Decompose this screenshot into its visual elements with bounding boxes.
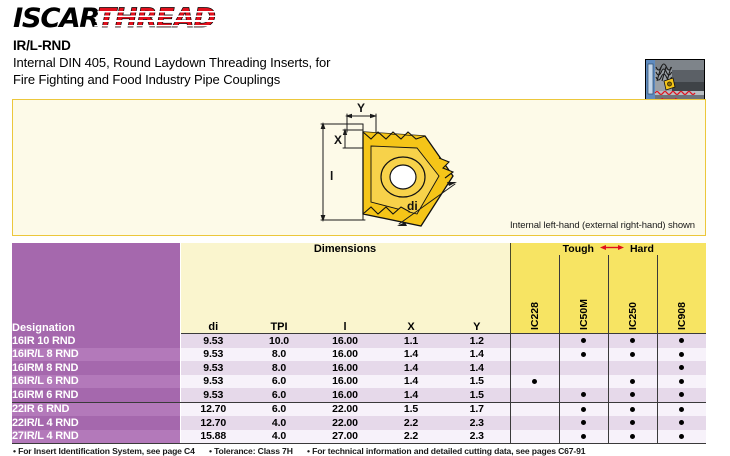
cell-di: 15.88	[180, 430, 246, 444]
availability-dot-icon	[679, 392, 684, 397]
cell-di: 9.53	[180, 361, 246, 375]
cell-grade-ic50m	[559, 361, 608, 375]
page-subtitle: Internal DIN 405, Round Laydown Threadin…	[13, 55, 330, 88]
cell-grade-ic908	[657, 375, 706, 389]
table-row: 22IR/L 4 RND12.704.022.002.22.3	[12, 416, 706, 430]
cell-l: 16.00	[312, 361, 378, 375]
table-row: 16IRM 8 RND9.538.016.001.41.4	[12, 361, 706, 375]
cell-y: 1.7	[444, 402, 510, 416]
cell-tpi: 4.0	[246, 430, 312, 444]
header-tpi: TPI	[246, 255, 312, 334]
logo-thread-text: THREAD	[98, 5, 216, 32]
header-l: l	[312, 255, 378, 334]
band-label-tough: Tough	[563, 243, 594, 255]
cell-di: 12.70	[180, 402, 246, 416]
cell-di: 12.70	[180, 416, 246, 430]
cell-x: 2.2	[378, 430, 444, 444]
cell-x: 1.5	[378, 402, 444, 416]
cell-grade-ic250	[608, 348, 657, 362]
logo-iscar-text: ISCAR	[13, 5, 99, 32]
cell-designation: 22IR 6 RND	[12, 402, 180, 416]
header-designation: Designation	[12, 243, 180, 334]
header-grade-ic250: IC250	[608, 255, 657, 334]
cell-grade-ic228	[510, 416, 559, 430]
cell-grade-ic250	[608, 361, 657, 375]
availability-dot-icon	[630, 352, 635, 357]
availability-dot-icon	[630, 379, 635, 384]
band-dimensions: Dimensions	[180, 243, 510, 255]
cell-grade-ic228	[510, 388, 559, 402]
table-row: 16IRM 6 RND9.536.016.001.41.5	[12, 388, 706, 402]
cell-designation: 16IR/L 6 RND	[12, 375, 180, 389]
header-x: X	[378, 255, 444, 334]
cell-y: 1.4	[444, 348, 510, 362]
table-row: 22IR 6 RND12.706.022.001.51.7	[12, 402, 706, 416]
cell-grade-ic228	[510, 430, 559, 444]
cell-grade-ic228	[510, 361, 559, 375]
cell-grade-ic228	[510, 375, 559, 389]
cell-grade-ic50m	[559, 430, 608, 444]
availability-dot-icon	[679, 434, 684, 439]
availability-dot-icon	[679, 338, 684, 343]
availability-dot-icon	[679, 407, 684, 412]
cell-tpi: 8.0	[246, 361, 312, 375]
logo-thread-label: THREAD	[98, 3, 216, 34]
label-x: X	[334, 133, 342, 147]
cell-designation: 16IR 10 RND	[12, 334, 180, 348]
cell-grade-ic908	[657, 388, 706, 402]
cell-grade-ic50m	[559, 402, 608, 416]
availability-dot-icon	[679, 365, 684, 370]
cell-di: 9.53	[180, 375, 246, 389]
cell-l: 16.00	[312, 334, 378, 348]
cell-x: 1.4	[378, 348, 444, 362]
cell-y: 1.4	[444, 361, 510, 375]
cell-l: 22.00	[312, 416, 378, 430]
cell-tpi: 4.0	[246, 416, 312, 430]
insert-spec-table: Designation Dimensions Tough Hard	[12, 243, 706, 444]
header-grade-ic50m: IC50M	[559, 255, 608, 334]
cell-l: 16.00	[312, 348, 378, 362]
availability-dot-icon	[581, 434, 586, 439]
cell-grade-ic908	[657, 348, 706, 362]
cell-designation: 22IR/L 4 RND	[12, 416, 180, 430]
header-di: di	[180, 255, 246, 334]
cell-grade-ic250	[608, 430, 657, 444]
table-row: 16IR/L 6 RND9.536.016.001.41.5	[12, 375, 706, 389]
table-row: 27IR/L 4 RND15.884.027.002.22.3	[12, 430, 706, 444]
cell-grade-ic250	[608, 375, 657, 389]
cell-grade-ic908	[657, 334, 706, 348]
cell-grade-ic50m	[559, 375, 608, 389]
band-label-hard: Hard	[630, 243, 654, 255]
cell-y: 1.5	[444, 375, 510, 389]
page-title: IR/L-RND	[13, 38, 71, 53]
cell-grade-ic228	[510, 348, 559, 362]
insert-diagram-panel: l X Y di Internal left-hand (external ri…	[12, 99, 706, 236]
availability-dot-icon	[630, 420, 635, 425]
cell-di: 9.53	[180, 348, 246, 362]
cell-tpi: 8.0	[246, 348, 312, 362]
cell-designation: 16IRM 6 RND	[12, 388, 180, 402]
application-photo-graphic	[646, 60, 704, 104]
cell-grade-ic908	[657, 416, 706, 430]
cell-l: 22.00	[312, 402, 378, 416]
availability-dot-icon	[679, 352, 684, 357]
cell-grade-ic50m	[559, 334, 608, 348]
insert-technical-drawing: l X Y di	[303, 102, 503, 234]
cell-grade-ic228	[510, 334, 559, 348]
header-y: Y	[444, 255, 510, 334]
availability-dot-icon	[581, 392, 586, 397]
cell-di: 9.53	[180, 334, 246, 348]
cell-grade-ic50m	[559, 416, 608, 430]
cell-designation: 27IR/L 4 RND	[12, 430, 180, 444]
subtitle-line-1: Internal DIN 405, Round Laydown Threadin…	[13, 55, 330, 72]
availability-dot-icon	[630, 338, 635, 343]
availability-dot-icon	[630, 407, 635, 412]
cell-tpi: 6.0	[246, 402, 312, 416]
cell-tpi: 6.0	[246, 388, 312, 402]
subtitle-line-2: Fire Fighting and Food Industry Pipe Cou…	[13, 72, 330, 89]
cell-y: 2.3	[444, 416, 510, 430]
cell-tpi: 10.0	[246, 334, 312, 348]
label-di: di	[407, 199, 418, 213]
cell-grade-ic50m	[559, 348, 608, 362]
availability-dot-icon	[679, 420, 684, 425]
cell-y: 2.3	[444, 430, 510, 444]
table-body: 16IR 10 RND9.5310.016.001.11.216IR/L 8 R…	[12, 334, 706, 444]
cell-x: 1.4	[378, 361, 444, 375]
availability-dot-icon	[581, 338, 586, 343]
iscar-thread-logo: ISCAR THREAD	[13, 4, 215, 32]
header-grade-ic228: IC228	[510, 255, 559, 334]
table-row: 16IR 10 RND9.5310.016.001.11.2	[12, 334, 706, 348]
availability-dot-icon	[630, 434, 635, 439]
availability-dot-icon	[630, 392, 635, 397]
cell-grade-ic228	[510, 402, 559, 416]
double-arrow-icon	[599, 243, 625, 255]
cell-tpi: 6.0	[246, 375, 312, 389]
label-y: Y	[357, 102, 365, 115]
cell-y: 1.5	[444, 388, 510, 402]
table-band-row: Designation Dimensions Tough Hard	[12, 243, 706, 255]
cell-grade-ic908	[657, 361, 706, 375]
cell-designation: 16IR/L 8 RND	[12, 348, 180, 362]
table-row: 16IR/L 8 RND9.538.016.001.41.4	[12, 348, 706, 362]
header-grade-ic908: IC908	[657, 255, 706, 334]
cell-grade-ic250	[608, 334, 657, 348]
diagram-caption: Internal left-hand (external right-hand)…	[510, 220, 695, 231]
label-l: l	[330, 169, 333, 183]
cell-grade-ic250	[608, 388, 657, 402]
cell-designation: 16IRM 8 RND	[12, 361, 180, 375]
cell-l: 16.00	[312, 388, 378, 402]
availability-dot-icon	[581, 420, 586, 425]
cell-grade-ic908	[657, 430, 706, 444]
cell-x: 1.1	[378, 334, 444, 348]
availability-dot-icon	[679, 379, 684, 384]
availability-dot-icon	[581, 352, 586, 357]
cell-x: 1.4	[378, 375, 444, 389]
cell-x: 1.4	[378, 388, 444, 402]
cell-x: 2.2	[378, 416, 444, 430]
catalog-page: ISCAR THREAD IR/L-RND Internal DIN 405, …	[0, 0, 730, 455]
cell-grade-ic50m	[559, 388, 608, 402]
cell-grade-ic250	[608, 402, 657, 416]
band-grade-range: Tough Hard	[510, 243, 706, 255]
availability-dot-icon	[532, 379, 537, 384]
cell-l: 16.00	[312, 375, 378, 389]
cell-grade-ic250	[608, 416, 657, 430]
cell-grade-ic908	[657, 402, 706, 416]
availability-dot-icon	[581, 407, 586, 412]
cell-di: 9.53	[180, 388, 246, 402]
cell-l: 27.00	[312, 430, 378, 444]
cell-y: 1.2	[444, 334, 510, 348]
